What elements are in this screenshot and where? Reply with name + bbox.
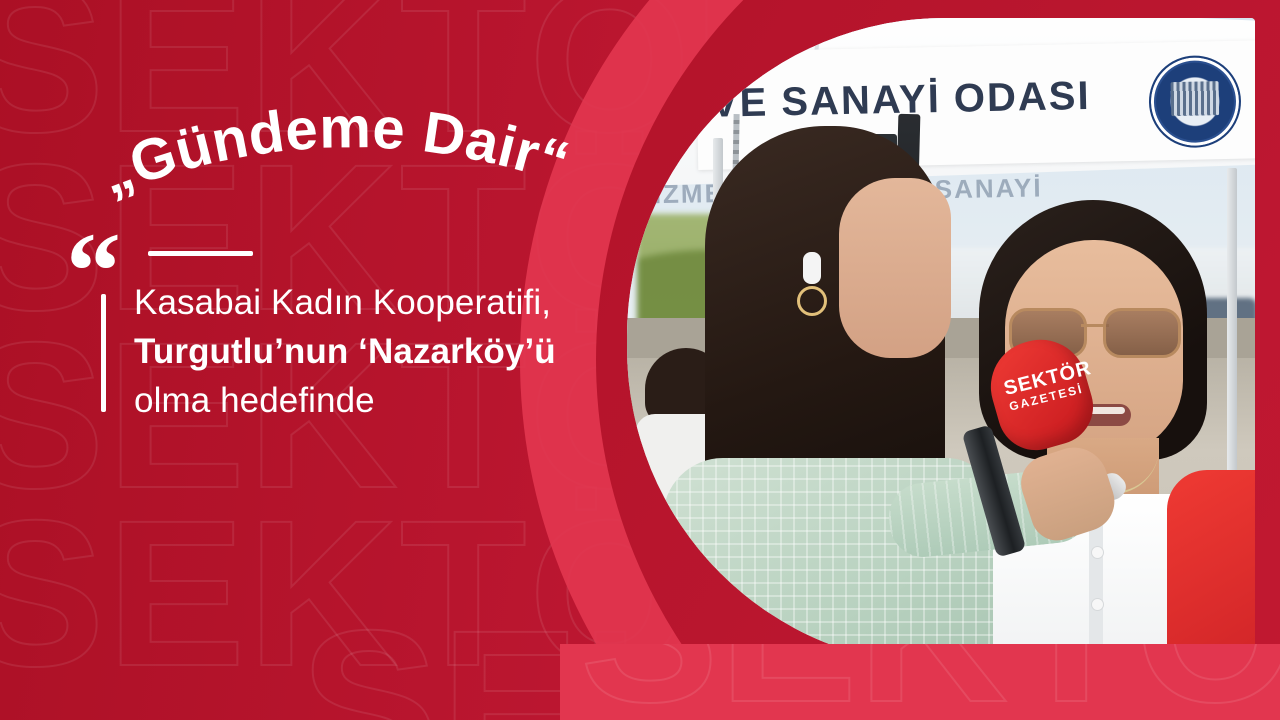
interviewee-cardigan-right bbox=[1167, 470, 1255, 666]
quote-line-1: Kasabai Kadın Kooperatifi, bbox=[134, 278, 694, 327]
quote-line-3: olma hedefinde bbox=[134, 376, 694, 425]
shirt-placket bbox=[1089, 510, 1103, 666]
quote-text: Kasabai Kadın Kooperatifi, Turgutlu’nun … bbox=[134, 278, 694, 425]
interviewer-earring bbox=[797, 286, 827, 316]
news-quote-card: SEKTÖR SEKTÖR SEKTÖR SEKTÖR SEKTÖR SEKTÖ… bbox=[0, 0, 1280, 720]
quotation-mark-icon: “ bbox=[66, 216, 115, 326]
shirt-button bbox=[1091, 546, 1104, 559]
interview-photo: VE SANAYİ ODASI HİZMET TİCARET VE SANAYİ bbox=[627, 18, 1255, 666]
quote-vertical-rule bbox=[101, 294, 106, 412]
bottom-band-watermark: SEKTÖR SEKTÖR bbox=[560, 644, 1280, 720]
quote-horizontal-rule bbox=[148, 251, 253, 256]
chamber-logo-icon bbox=[1148, 55, 1242, 149]
watermark-row: SEKTÖR SEKTÖR bbox=[580, 644, 1280, 720]
quote-line-2: Turgutlu’nun ‘Nazarköy’ü bbox=[134, 327, 694, 376]
sunglass-lens-right bbox=[1103, 308, 1181, 358]
interviewer-face bbox=[839, 178, 951, 358]
earbud-icon bbox=[803, 252, 821, 284]
shirt-button bbox=[1091, 598, 1104, 611]
photo-scene: VE SANAYİ ODASI HİZMET TİCARET VE SANAYİ bbox=[627, 18, 1255, 666]
